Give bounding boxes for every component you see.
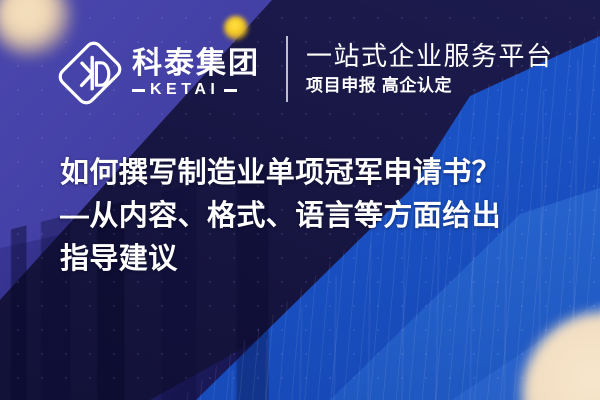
brand-wordmark: 科泰集团 KETAI (132, 48, 260, 99)
tagline: 一站式企业服务平台 项目申报 高企认定 (306, 36, 554, 102)
dash-right-icon (224, 89, 237, 92)
headline-line-1: 如何撰写制造业单项冠军申请书？ (60, 152, 560, 195)
brand-name-en-row: KETAI (132, 82, 260, 98)
dash-left-icon (132, 89, 145, 92)
headline: 如何撰写制造业单项冠军申请书？ —从内容、格式、语言等方面给出 指导建议 (60, 152, 560, 281)
headline-line-2: —从内容、格式、语言等方面给出 (60, 195, 560, 238)
vertical-divider (286, 36, 288, 102)
tagline-sub: 项目申报 高企认定 (306, 77, 554, 96)
promo-banner: 科泰集团 KETAI 一站式企业服务平台 项目申报 高企认定 如何撰写制造业单项… (0, 0, 600, 400)
headline-line-3: 指导建议 (60, 238, 560, 281)
brand-logo[interactable]: 科泰集团 KETAI (58, 36, 260, 110)
ketai-diamond-kd-monogram-icon (58, 41, 122, 105)
brand-name-en: KETAI (150, 82, 219, 98)
brand-name-cn: 科泰集团 (132, 48, 260, 80)
tagline-main: 一站式企业服务平台 (306, 42, 554, 71)
